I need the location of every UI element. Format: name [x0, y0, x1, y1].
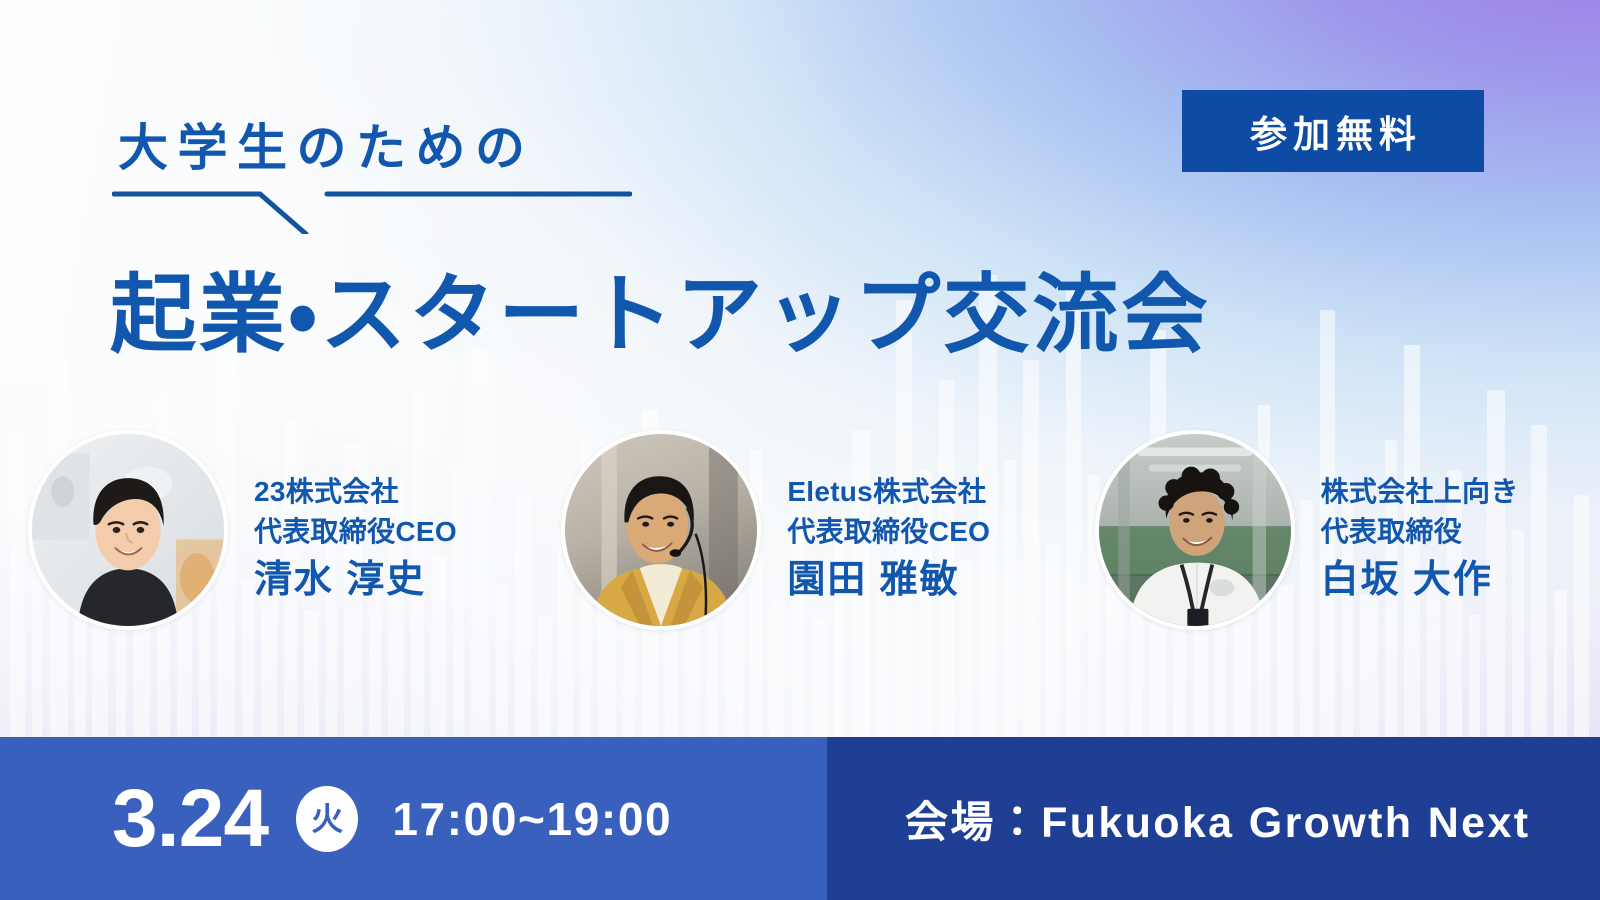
venue-section: 会場：Fukuoka Growth Next — [827, 737, 1600, 900]
decorative-rule — [112, 186, 632, 234]
speaker-info: 株式会社上向き 代表取締役 白坂 大作 — [1321, 430, 1519, 605]
event-details-bar: 3.24 火 17:00~19:00 会場：Fukuoka Growth Nex… — [0, 737, 1600, 900]
event-poster: 大学生のための 起業・スタートアップ交流会 参加無料 — [0, 0, 1600, 900]
subtitle: 大学生のための — [118, 108, 535, 180]
speaker-info: 23株式会社 代表取締役CEO 清水 淳史 — [254, 430, 457, 605]
speaker-name: 園田 雅敏 — [787, 556, 990, 605]
speaker-info: Eletus株式会社 代表取締役CEO 園田 雅敏 — [787, 430, 990, 605]
speaker-role: 代表取締役CEO — [787, 512, 990, 552]
speaker-role: 代表取締役 — [1321, 512, 1519, 552]
event-date: 3.24 — [112, 778, 268, 860]
speaker-card: 株式会社上向き 代表取締役 白坂 大作 — [1067, 430, 1600, 680]
speaker-photo-sonoda — [565, 434, 757, 626]
speaker-photo-shimizu — [32, 434, 224, 626]
speaker-photo-shirasaka — [1099, 434, 1291, 626]
speaker-org: 23株式会社 — [254, 472, 457, 512]
weekday-badge: 火 — [296, 786, 358, 852]
avatar — [28, 430, 228, 630]
event-time: 17:00~19:00 — [392, 792, 672, 846]
avatar — [561, 430, 761, 630]
page-title: 起業・スタートアップ交流会 — [110, 244, 1210, 369]
free-admission-badge: 参加無料 — [1182, 90, 1484, 172]
speaker-list: 23株式会社 代表取締役CEO 清水 淳史 — [0, 430, 1600, 680]
speaker-org: 株式会社上向き — [1321, 472, 1519, 512]
free-admission-label: 参加無料 — [1244, 104, 1422, 158]
speaker-card: 23株式会社 代表取締役CEO 清水 淳史 — [0, 430, 533, 680]
event-venue: 会場：Fukuoka Growth Next — [905, 788, 1530, 850]
weekday-label: 火 — [311, 803, 343, 835]
date-time-section: 3.24 火 17:00~19:00 — [0, 737, 827, 900]
speaker-card: Eletus株式会社 代表取締役CEO 園田 雅敏 — [533, 430, 1066, 680]
speaker-name: 清水 淳史 — [254, 556, 457, 605]
speaker-role: 代表取締役CEO — [254, 512, 457, 552]
speaker-name: 白坂 大作 — [1321, 556, 1519, 605]
avatar — [1095, 430, 1295, 630]
speaker-org: Eletus株式会社 — [787, 472, 990, 512]
